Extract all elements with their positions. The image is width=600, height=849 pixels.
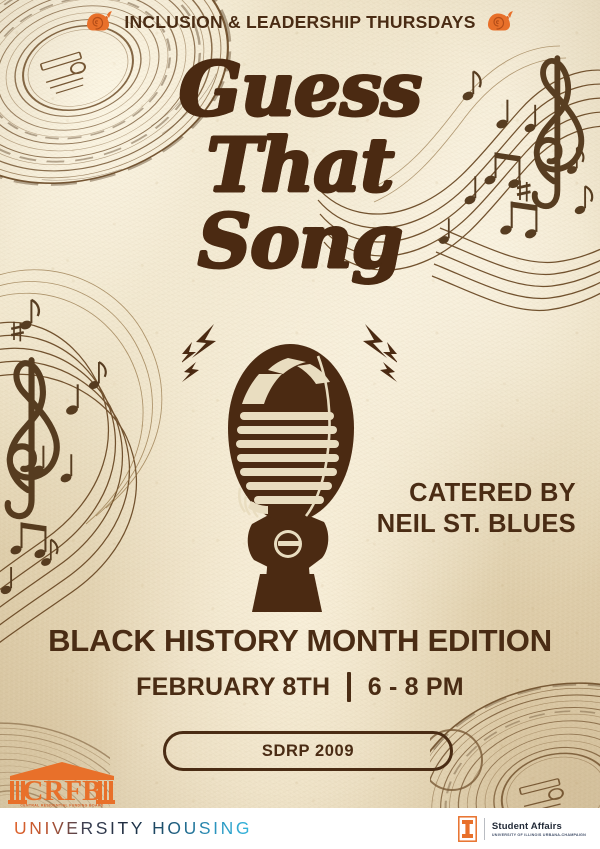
location-label: SDRP 2009 — [262, 742, 354, 761]
lightning-bolt-icon-left — [182, 324, 216, 382]
event-time: 6 - 8 PM — [368, 673, 464, 702]
student-affairs-title: Student Affairs — [492, 821, 586, 832]
crfb-acronym: CRFB — [23, 775, 102, 807]
header-title: INCLUSION & LEADERSHIP THURSDAYS — [124, 12, 475, 33]
title-line-1: Guess — [0, 56, 600, 124]
event-date: FEBRUARY 8TH — [136, 673, 330, 702]
location-badge: SDRP 2009 — [163, 731, 453, 771]
header-banner: INCLUSION & LEADERSHIP THURSDAYS — [0, 10, 600, 34]
poster-canvas: INCLUSION & LEADERSHIP THURSDAYS Guess T… — [0, 0, 600, 849]
edition-heading: BLACK HISTORY MONTH EDITION — [0, 623, 600, 659]
title-line-2: That — [0, 132, 600, 200]
snail-record-icon-right — [487, 10, 514, 34]
logo-divider — [484, 818, 485, 840]
crfb-subtitle: CENTRAL RESIDENTIAL FUNDING BOARD — [20, 804, 103, 808]
university-housing-wordmark: UNIVERSITY HOUSING — [14, 818, 252, 839]
student-affairs-subtitle: UNIVERSITY OF ILLINOIS URBANA-CHAMPAIGN — [492, 833, 586, 837]
catering-info: CATERED BY NEIL ST. BLUES — [377, 478, 576, 540]
crfb-logo: CRFB CENTRAL RESIDENTIAL FUNDING BOARD — [6, 762, 118, 808]
student-affairs-lockup: Student Affairs UNIVERSITY OF ILLINOIS U… — [458, 816, 586, 842]
date-time-row: FEBRUARY 8TH 6 - 8 PM — [0, 672, 600, 702]
illinois-block-i-icon — [458, 816, 477, 842]
lightning-bolt-icon-right — [363, 324, 397, 382]
catered-by-label: CATERED BY — [377, 478, 576, 509]
poster-title: Guess That Song — [0, 56, 600, 276]
vintage-microphone-icon — [182, 312, 397, 612]
caterer-name: NEIL ST. BLUES — [377, 509, 576, 540]
snail-record-icon-left — [86, 10, 113, 34]
sponsor-footer-bar: UNIVERSITY HOUSING Student Affairs UNIVE… — [0, 808, 600, 849]
divider-bar — [347, 672, 351, 702]
student-affairs-text: Student Affairs UNIVERSITY OF ILLINOIS U… — [492, 821, 586, 837]
title-line-3: Song — [0, 208, 600, 276]
